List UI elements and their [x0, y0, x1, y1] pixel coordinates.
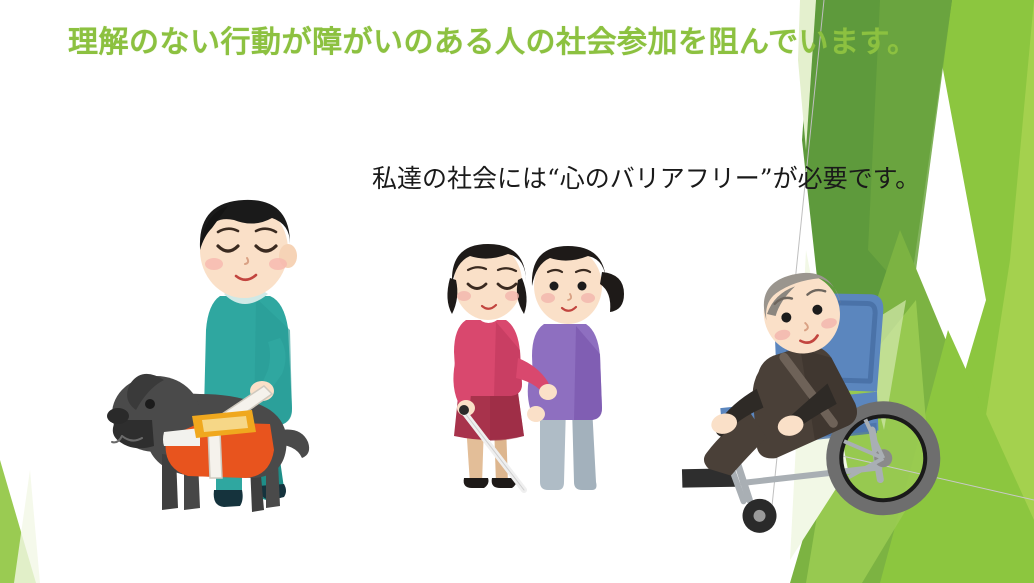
slide-subtitle: 私達の社会には“心のバリアフリー”が必要です。 — [372, 163, 920, 196]
dog-muzzle — [113, 420, 154, 448]
top-right-facet-pale — [798, 0, 816, 150]
ponytail — [600, 272, 624, 312]
slide-title: 理解のない行動が障がいのある人の社会参加を阻んでいます。 — [68, 24, 828, 62]
bottom-left-triangle-pale — [14, 470, 40, 583]
slide-canvas: 理解のない行動が障がいのある人の社会参加を阻んでいます。 私達の社会には“心のバ… — [0, 0, 1034, 583]
dog-nose — [107, 408, 129, 424]
illustration-man-with-guide-dog — [104, 188, 336, 518]
illustration-elderly-person-in-reclining-wheelchair — [664, 272, 926, 540]
right-facet-light — [960, 0, 1034, 583]
guiding-woman-figure — [527, 246, 624, 490]
illustration-woman-with-white-cane-and-guide — [432, 238, 632, 518]
bottom-left-triangle — [0, 460, 36, 583]
dog-eye — [145, 399, 155, 409]
